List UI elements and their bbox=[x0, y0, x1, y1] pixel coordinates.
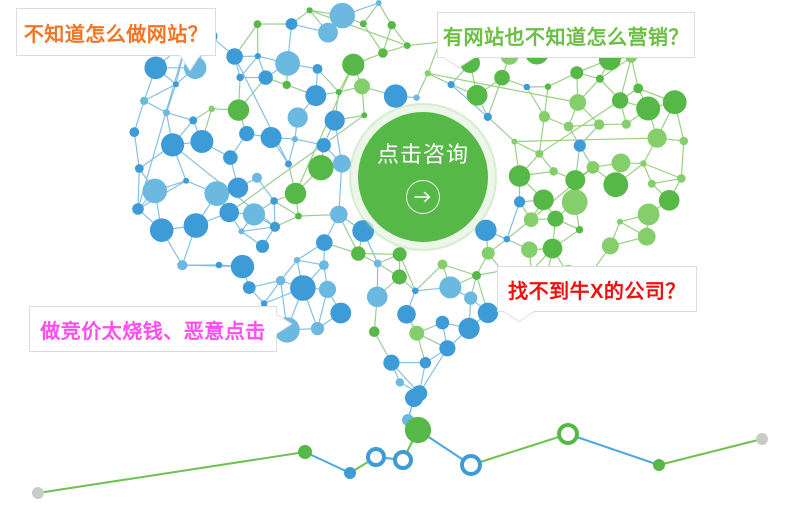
consult-cta-button[interactable]: 点击咨询 bbox=[358, 112, 488, 242]
bottom-node-polyline bbox=[32, 417, 768, 499]
callout-text: 找不到牛X的公司？ bbox=[508, 275, 686, 304]
callout-ppc-too-costly: 做竞价太烧钱、恶意点击 bbox=[29, 306, 277, 352]
callout-text: 不知道怎么做网站？ bbox=[24, 18, 209, 47]
poster-canvas: 点击咨询 不知道怎么做网站？ 有网站也不知道怎么营销？ 找不到牛X的公司？ 做竞… bbox=[0, 0, 800, 510]
arrow-right-icon bbox=[406, 180, 440, 214]
callout-text: 有网站也不知道怎么营销？ bbox=[443, 21, 689, 50]
brain-network-illustration bbox=[0, 0, 800, 510]
callout-text: 做竞价太烧钱、恶意点击 bbox=[40, 315, 266, 344]
cta-label: 点击咨询 bbox=[377, 144, 469, 166]
callout-no-marketing: 有网站也不知道怎么营销？ bbox=[437, 12, 695, 58]
callout-no-good-company: 找不到牛X的公司？ bbox=[497, 266, 697, 312]
callout-no-website: 不知道怎么做网站？ bbox=[16, 8, 216, 56]
